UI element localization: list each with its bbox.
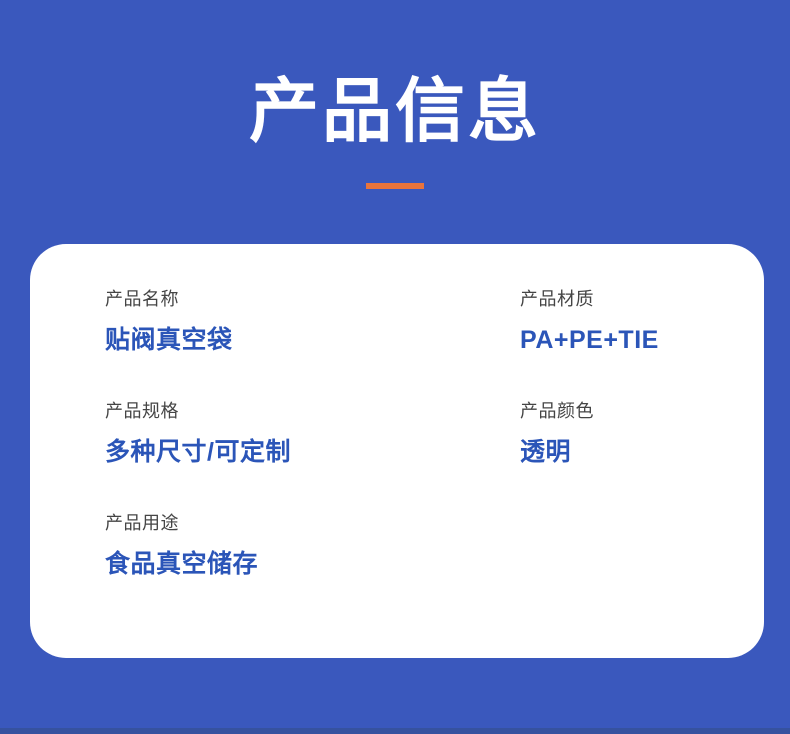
spec-item-product-color: 产品颜色 透明 bbox=[520, 398, 725, 510]
product-spec-grid: 产品名称 贴阀真空袋 产品材质 PA+PE+TIE 产品规格 多种尺寸/可定制 … bbox=[105, 286, 725, 622]
title-accent-underline bbox=[366, 183, 424, 189]
product-info-banner: 产品信息 产品名称 贴阀真空袋 产品材质 PA+PE+TIE 产品规格 多种尺寸… bbox=[0, 0, 790, 734]
spec-value: 透明 bbox=[520, 436, 725, 468]
spec-label: 产品规格 bbox=[105, 398, 520, 424]
page-title: 产品信息 bbox=[0, 70, 790, 152]
spec-label: 产品名称 bbox=[105, 286, 520, 312]
spec-row: 产品规格 多种尺寸/可定制 产品颜色 透明 bbox=[105, 398, 725, 510]
banner-header: 产品信息 bbox=[0, 0, 790, 220]
spec-item-product-material: 产品材质 PA+PE+TIE bbox=[520, 286, 725, 398]
spec-item-product-use: 产品用途 食品真空储存 bbox=[105, 510, 520, 622]
spec-item-product-name: 产品名称 贴阀真空袋 bbox=[105, 286, 520, 398]
spec-value: 贴阀真空袋 bbox=[105, 324, 520, 356]
spec-row: 产品名称 贴阀真空袋 产品材质 PA+PE+TIE bbox=[105, 286, 725, 398]
spec-row: 产品用途 食品真空储存 bbox=[105, 510, 725, 622]
bottom-edge-band bbox=[0, 728, 790, 734]
spec-label: 产品颜色 bbox=[520, 398, 725, 424]
spec-item-empty bbox=[520, 510, 725, 622]
spec-item-product-specification: 产品规格 多种尺寸/可定制 bbox=[105, 398, 520, 510]
spec-label: 产品用途 bbox=[105, 510, 520, 536]
spec-label: 产品材质 bbox=[520, 286, 725, 312]
spec-value: PA+PE+TIE bbox=[520, 324, 725, 356]
spec-value: 多种尺寸/可定制 bbox=[105, 436, 520, 468]
product-spec-card: 产品名称 贴阀真空袋 产品材质 PA+PE+TIE 产品规格 多种尺寸/可定制 … bbox=[30, 244, 764, 658]
spec-value: 食品真空储存 bbox=[105, 548, 520, 580]
